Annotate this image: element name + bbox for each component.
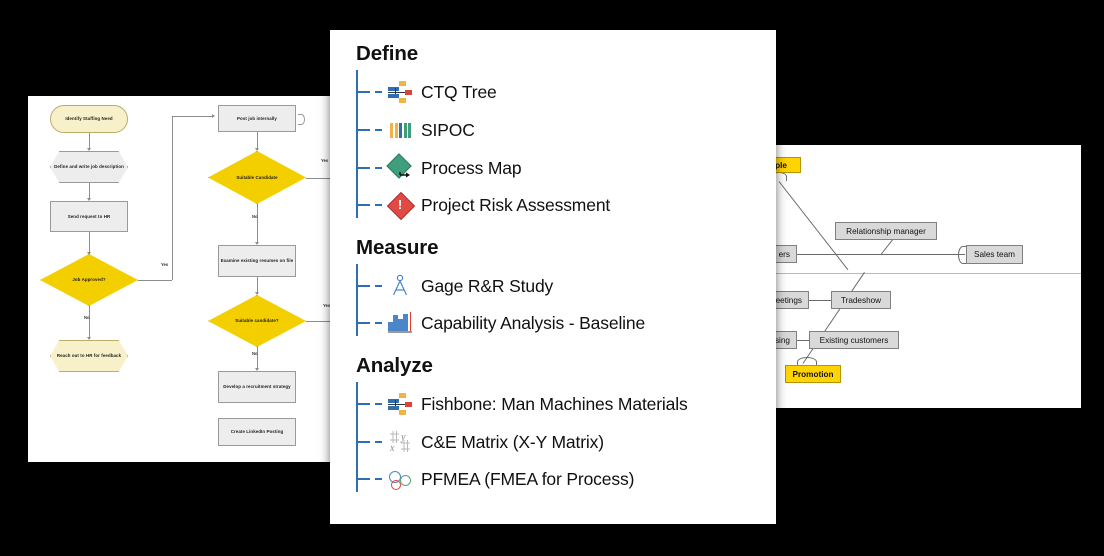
flow-node-identify-staffing-need[interactable]: Identify Staffing Need [50, 105, 128, 133]
flow-node-suitable-candidate-1[interactable]: Suitable Candidate [208, 151, 306, 204]
tool-label: Fishbone: Man Machines Materials [421, 394, 688, 415]
flow-node-develop-recruitment-strategy[interactable]: Develop a recruitment strategy [218, 371, 296, 403]
tree-branch-dash [375, 204, 382, 206]
sipoc-icon [387, 117, 413, 143]
flow-edge-label-no: No [252, 351, 258, 356]
fishbone-box-sales-team[interactable]: Sales team [966, 245, 1023, 264]
tree-branch-tick [356, 167, 370, 169]
fishbone-rib [803, 272, 865, 364]
fishbone-icon [387, 391, 413, 417]
flow-edge-label-yes: Yes [321, 158, 328, 163]
flow-node-examine-existing-resumes[interactable]: Examine existing resumes on file [218, 245, 296, 277]
flow-edge-label-no: No [84, 315, 90, 320]
tool-label: C&E Matrix (X-Y Matrix) [421, 432, 604, 453]
tree-branch-dash [375, 91, 382, 93]
circles-icon [387, 466, 413, 492]
tree-branch-dash [375, 441, 382, 443]
tool-row-ce-matrix[interactable]: x y C&E Matrix (X-Y Matrix) [387, 427, 604, 457]
tool-row-sipoc[interactable]: SIPOC [387, 115, 475, 145]
tool-label: PFMEA (FMEA for Process) [421, 469, 634, 490]
tree-branch-dash [375, 478, 382, 480]
dmaic-tool-tree-panel[interactable]: Define CTQ Tree SIPOC [330, 30, 776, 524]
flow-node-send-request-hr[interactable]: Send request to HR [50, 201, 128, 232]
flow-node-create-linkedin-posting[interactable]: Create LinkedIn Posting [218, 418, 296, 446]
histogram-icon [387, 310, 413, 336]
tree-branch-tick [356, 322, 370, 324]
tree-elbow [356, 454, 358, 480]
risk-diamond-icon: ! [387, 192, 413, 218]
flow-connector [172, 116, 214, 117]
tree-branch-tick [356, 478, 370, 480]
tree-branch-tick [356, 403, 370, 405]
flow-connector [89, 306, 90, 339]
flow-offpage-connector-icon [298, 114, 305, 125]
tree-elbow [356, 180, 358, 206]
fishbone-box-relationship-manager[interactable]: Relationship manager [835, 222, 937, 240]
flow-connector [306, 321, 332, 322]
flow-node-post-job-internally[interactable]: Post job internally [218, 105, 296, 132]
tree-branch-tick [356, 441, 370, 443]
tool-row-project-risk-assessment[interactable]: ! Project Risk Assessment [387, 190, 610, 220]
flow-arrow-icon [87, 337, 91, 340]
flow-connector [257, 204, 258, 244]
tool-label: Gage R&R Study [421, 276, 553, 297]
tool-label: Project Risk Assessment [421, 195, 610, 216]
tool-label: CTQ Tree [421, 82, 497, 103]
flow-arrow-icon [255, 292, 259, 295]
fishbone-box-tradeshow[interactable]: Tradeshow [831, 291, 891, 309]
tool-row-pfmea[interactable]: PFMEA (FMEA for Process) [387, 464, 634, 494]
flow-edge-label-no: No [252, 214, 258, 219]
tool-row-fishbone[interactable]: Fishbone: Man Machines Materials [387, 389, 688, 419]
compass-icon [387, 273, 413, 299]
tool-row-process-map[interactable]: Process Map [387, 153, 521, 183]
svg-text:y: y [400, 432, 406, 443]
flow-node-reach-out-hr[interactable]: Reach out to HR for feedback [50, 340, 128, 372]
tree-elbow [356, 298, 358, 324]
tree-branch-tick [356, 204, 370, 206]
tree-branch-tick [356, 285, 370, 287]
tree-branch-dash [375, 167, 382, 169]
flow-connector [306, 178, 332, 179]
tree-branch-dash [375, 403, 382, 405]
tool-row-capability-analysis-baseline[interactable]: Capability Analysis - Baseline [387, 308, 645, 338]
flow-edge-label-yes: Yes [161, 262, 168, 267]
flow-connector [172, 116, 173, 280]
phase-title-define: Define [356, 42, 418, 66]
phase-title-measure: Measure [356, 236, 438, 260]
tree-branch-dash [375, 322, 382, 324]
flow-arrow-icon [87, 148, 91, 151]
flow-node-job-approved[interactable]: Job Approved? [40, 254, 138, 306]
ctq-tree-icon [387, 79, 413, 105]
flowchart-panel[interactable]: Identify Staffing Need Define and write … [28, 96, 332, 462]
tree-branch-tick [356, 129, 370, 131]
phase-title-analyze: Analyze [356, 354, 433, 378]
fishbone-spine [769, 273, 1081, 274]
tree-branch-tick [356, 91, 370, 93]
tree-branch-dash [375, 285, 382, 287]
flow-arrow-icon [212, 114, 215, 118]
grid-xy-icon: x y [387, 429, 413, 455]
tool-row-gage-rr-study[interactable]: Gage R&R Study [387, 271, 553, 301]
fishbone-panel[interactable]: ple ers Relationship manager Sales team … [745, 145, 1081, 408]
tool-row-ctq-tree[interactable]: CTQ Tree [387, 77, 497, 107]
flow-node-define-job-description[interactable]: Define and write job description [50, 151, 128, 183]
flow-connector [138, 280, 172, 281]
fishbone-box-promotion[interactable]: Promotion [785, 365, 841, 383]
svg-text:x: x [389, 443, 395, 454]
tool-label: Process Map [421, 158, 521, 179]
flow-connector [89, 232, 90, 254]
tool-label: SIPOC [421, 120, 475, 141]
tree-branch-dash [375, 129, 382, 131]
flow-arrow-icon [255, 148, 259, 151]
flow-node-suitable-candidate-2[interactable]: Suitable candidate? [208, 295, 306, 347]
tool-label: Capability Analysis - Baseline [421, 313, 645, 334]
process-map-icon [387, 155, 413, 181]
fishbone-box-existing-customers[interactable]: Existing customers [809, 331, 899, 349]
